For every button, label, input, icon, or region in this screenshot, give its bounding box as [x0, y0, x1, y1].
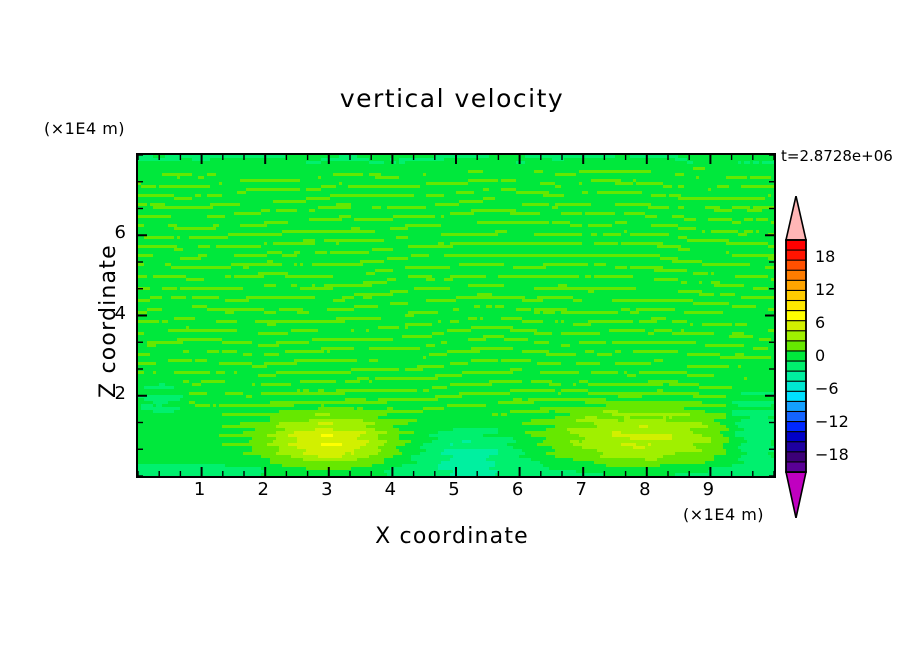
x-tick-label-8: 8 [625, 479, 665, 500]
x-tick-label-7: 7 [561, 479, 601, 500]
colorbar-label-0: 0 [815, 346, 825, 365]
x-tick-label-5: 5 [434, 479, 474, 500]
colorbar-label-neg12: −12 [815, 412, 849, 431]
colorbar-swatches [781, 196, 811, 518]
colorbar-label-6: 6 [815, 313, 825, 332]
x-axis-unit-label: (×1E4 m) [683, 505, 764, 524]
x-tick-label-2: 2 [243, 479, 283, 500]
contour-field [138, 155, 774, 476]
x-tick-label-9: 9 [688, 479, 728, 500]
x-tick-label-6: 6 [498, 479, 538, 500]
y-axis-unit-label: (×1E4 m) [44, 119, 125, 138]
y-tick-label-6: 6 [92, 222, 126, 243]
x-tick-label-4: 4 [370, 479, 410, 500]
colorbar-label-18: 18 [815, 247, 835, 266]
x-tick-label-3: 3 [307, 479, 347, 500]
chart-title: vertical velocity [0, 84, 904, 113]
colorbar [781, 196, 811, 518]
x-tick-label-1: 1 [180, 479, 220, 500]
colorbar-label-neg6: −6 [815, 379, 839, 398]
timestamp-annotation: t=2.8728e+06 [781, 147, 893, 165]
colorbar-label-neg18: −18 [815, 445, 849, 464]
figure-canvas: vertical velocity (×1E4 m) t=2.8728e+06 … [0, 0, 904, 654]
z-axis-title: Z coordinate [96, 244, 121, 398]
colorbar-label-12: 12 [815, 280, 835, 299]
contour-plot-area [136, 153, 776, 478]
x-axis-title: X coordinate [0, 524, 904, 549]
